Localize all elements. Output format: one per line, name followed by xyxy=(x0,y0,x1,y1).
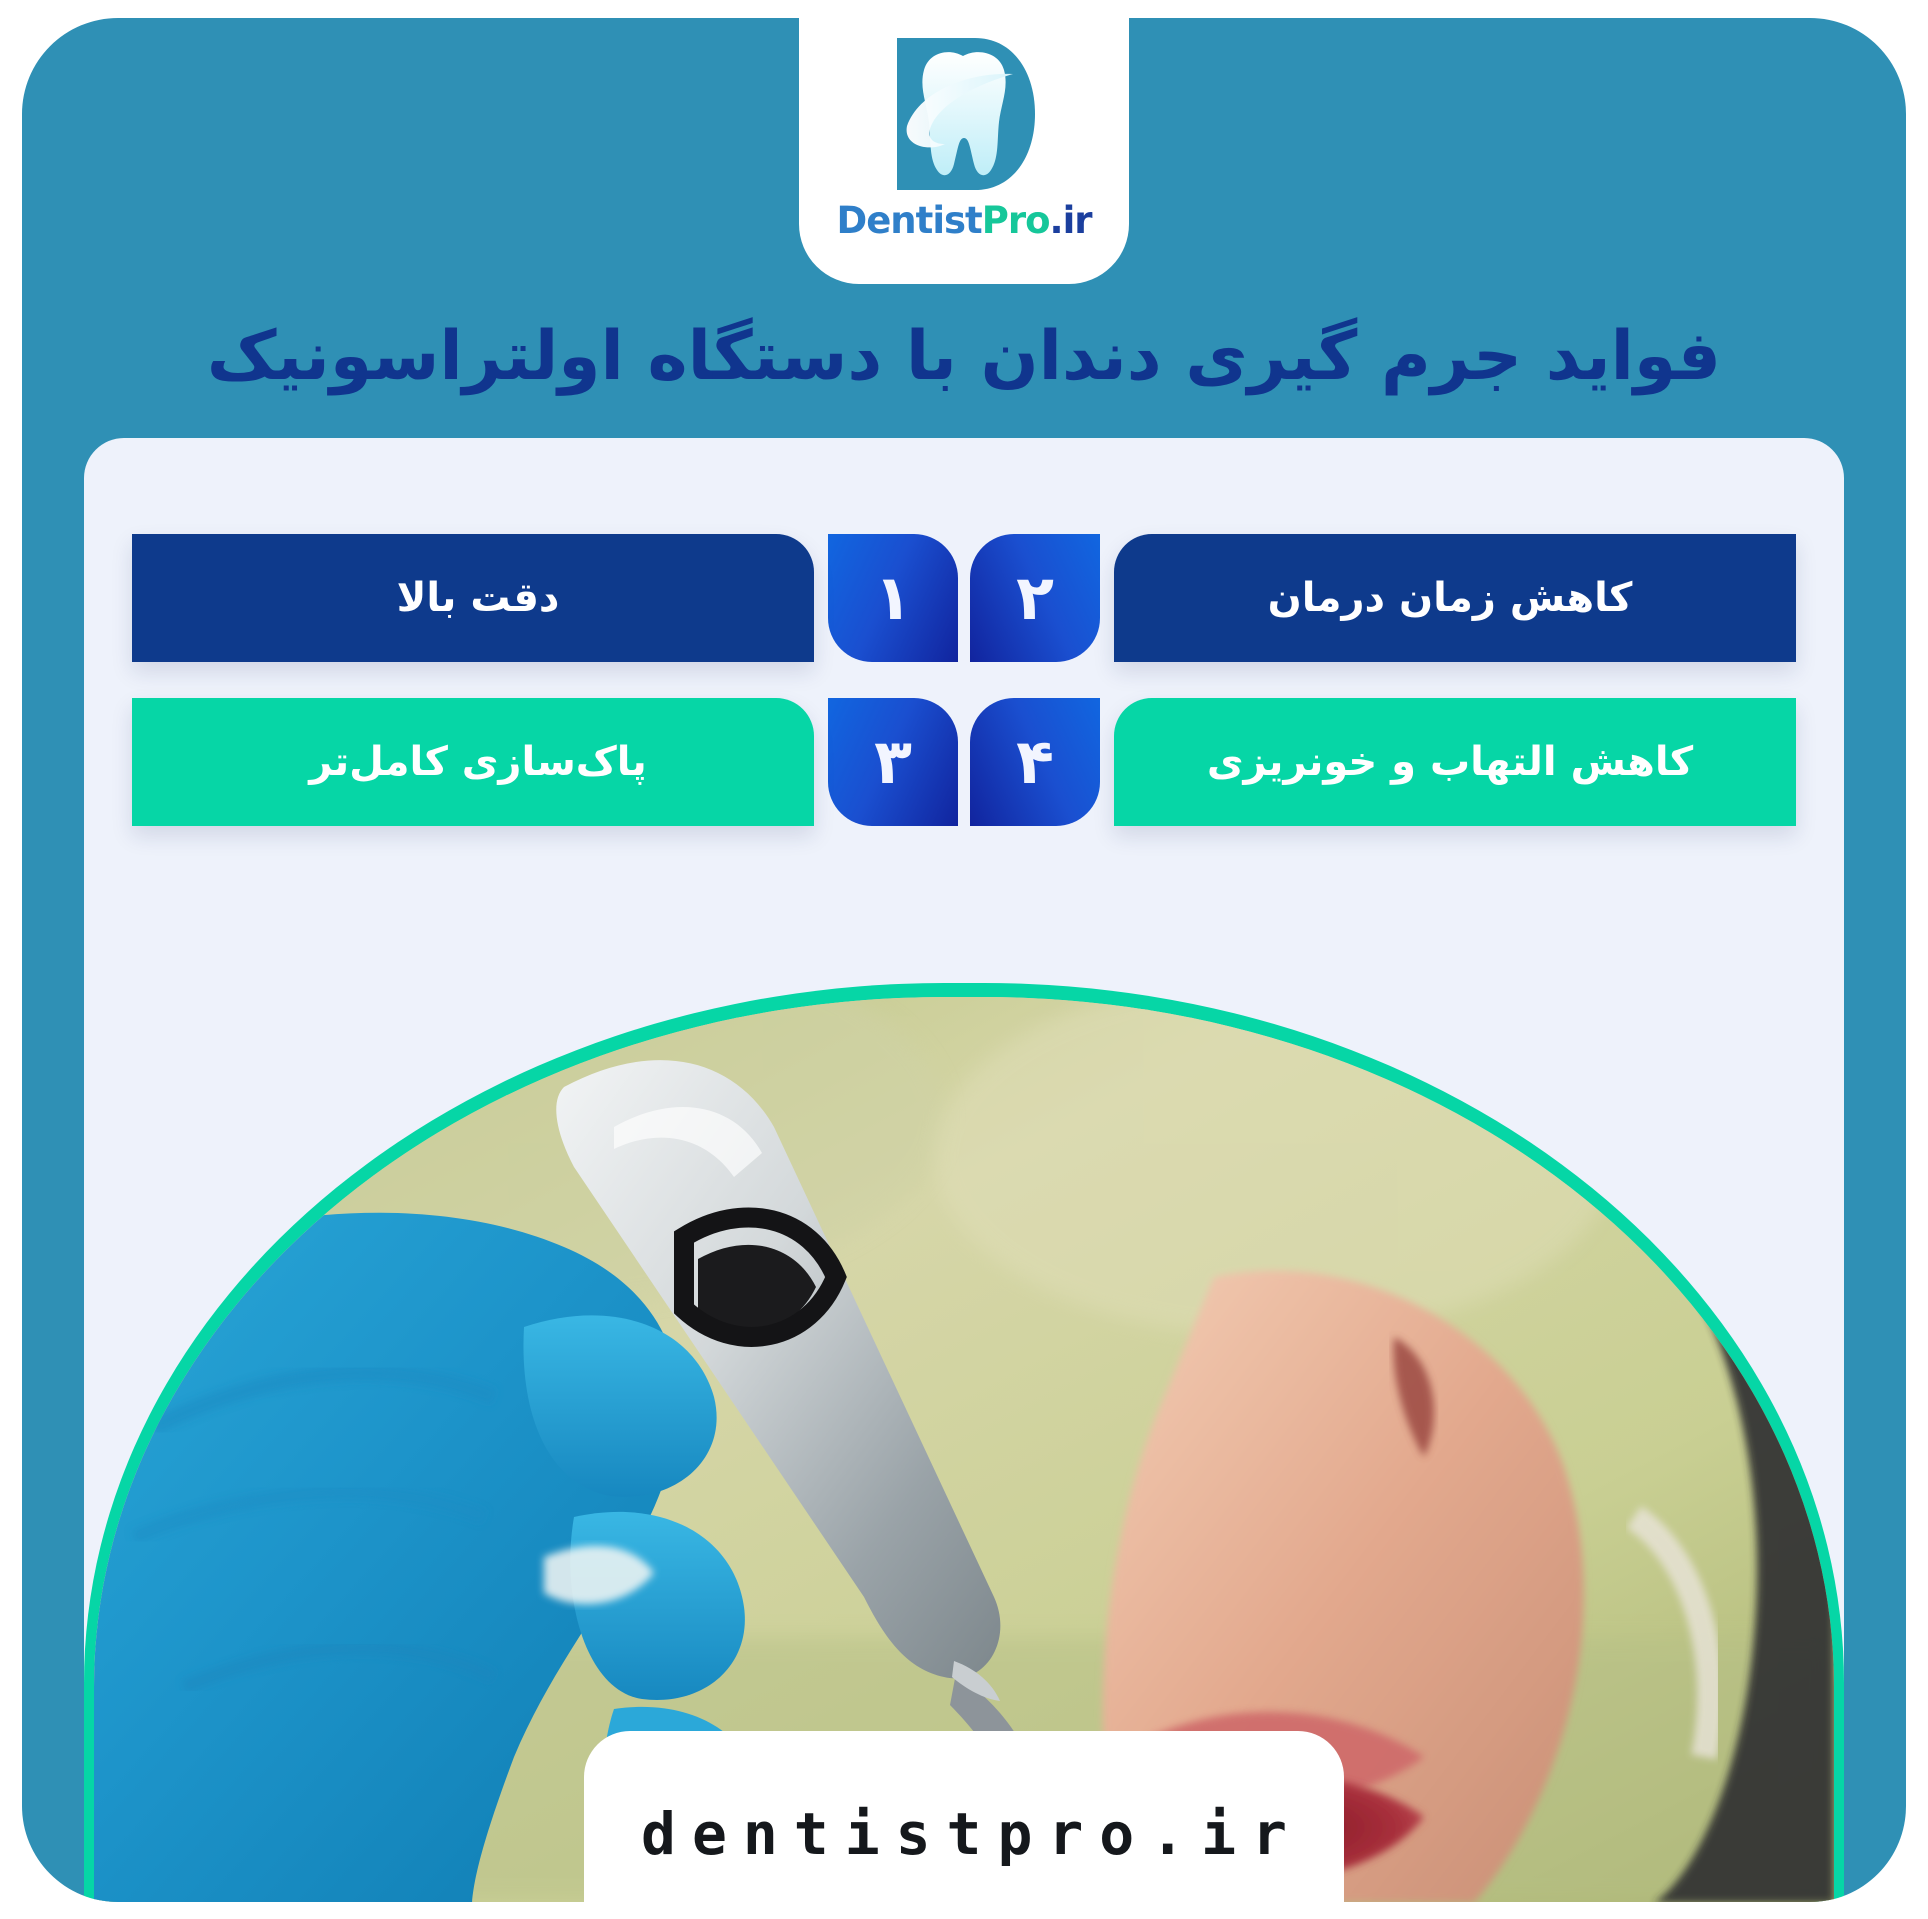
logo-wordmark: DentistPro.ir xyxy=(836,202,1091,239)
benefit-card-3[interactable]: پاک‌سازی کامل‌تر xyxy=(132,698,814,826)
logo-wordmark-pro: Pro xyxy=(982,199,1050,242)
logo-wordmark-tld: ir xyxy=(1063,199,1092,242)
benefit-card-1[interactable]: دقت بالا xyxy=(132,534,814,662)
footer-website-url[interactable]: dentistpro.ir xyxy=(625,1800,1303,1868)
logo-wordmark-dot: . xyxy=(1050,199,1063,242)
footer-plaque: dentistpro.ir xyxy=(584,1731,1344,1902)
benefit-badges-row-1: ۱ ۲ xyxy=(814,534,1114,662)
tooth-logo-icon xyxy=(889,30,1039,198)
benefit-card-4[interactable]: کاهش التهاب و خونریزی xyxy=(1114,698,1796,826)
benefit-number-3: ۳ xyxy=(828,698,958,826)
content-panel: کاهش زمان درمان ۱ ۲ دقت بالا کاهش التهاب… xyxy=(84,438,1844,1902)
benefit-number-2: ۲ xyxy=(970,534,1100,662)
logo-plaque: DentistPro.ir xyxy=(799,18,1129,284)
benefit-number-4: ۴ xyxy=(970,698,1100,826)
photo-section: dentistpro.ir xyxy=(84,983,1844,1902)
benefit-row-2: کاهش التهاب و خونریزی ۳ ۴ پاک‌سازی کامل‌… xyxy=(132,698,1796,826)
logo-wordmark-dentist: Dentist xyxy=(836,199,981,242)
benefit-number-1: ۱ xyxy=(828,534,958,662)
benefit-badges-row-2: ۳ ۴ xyxy=(814,698,1114,826)
benefit-row-1: کاهش زمان درمان ۱ ۲ دقت بالا xyxy=(132,534,1796,662)
infographic-canvas: DentistPro.ir فواید جرم گیری دندان با دس… xyxy=(22,18,1906,1902)
benefit-card-2[interactable]: کاهش زمان درمان xyxy=(1114,534,1796,662)
benefits-grid: کاهش زمان درمان ۱ ۲ دقت بالا کاهش التهاب… xyxy=(132,534,1796,862)
page-title: فواید جرم گیری دندان با دستگاه اولتراسون… xyxy=(22,314,1906,399)
